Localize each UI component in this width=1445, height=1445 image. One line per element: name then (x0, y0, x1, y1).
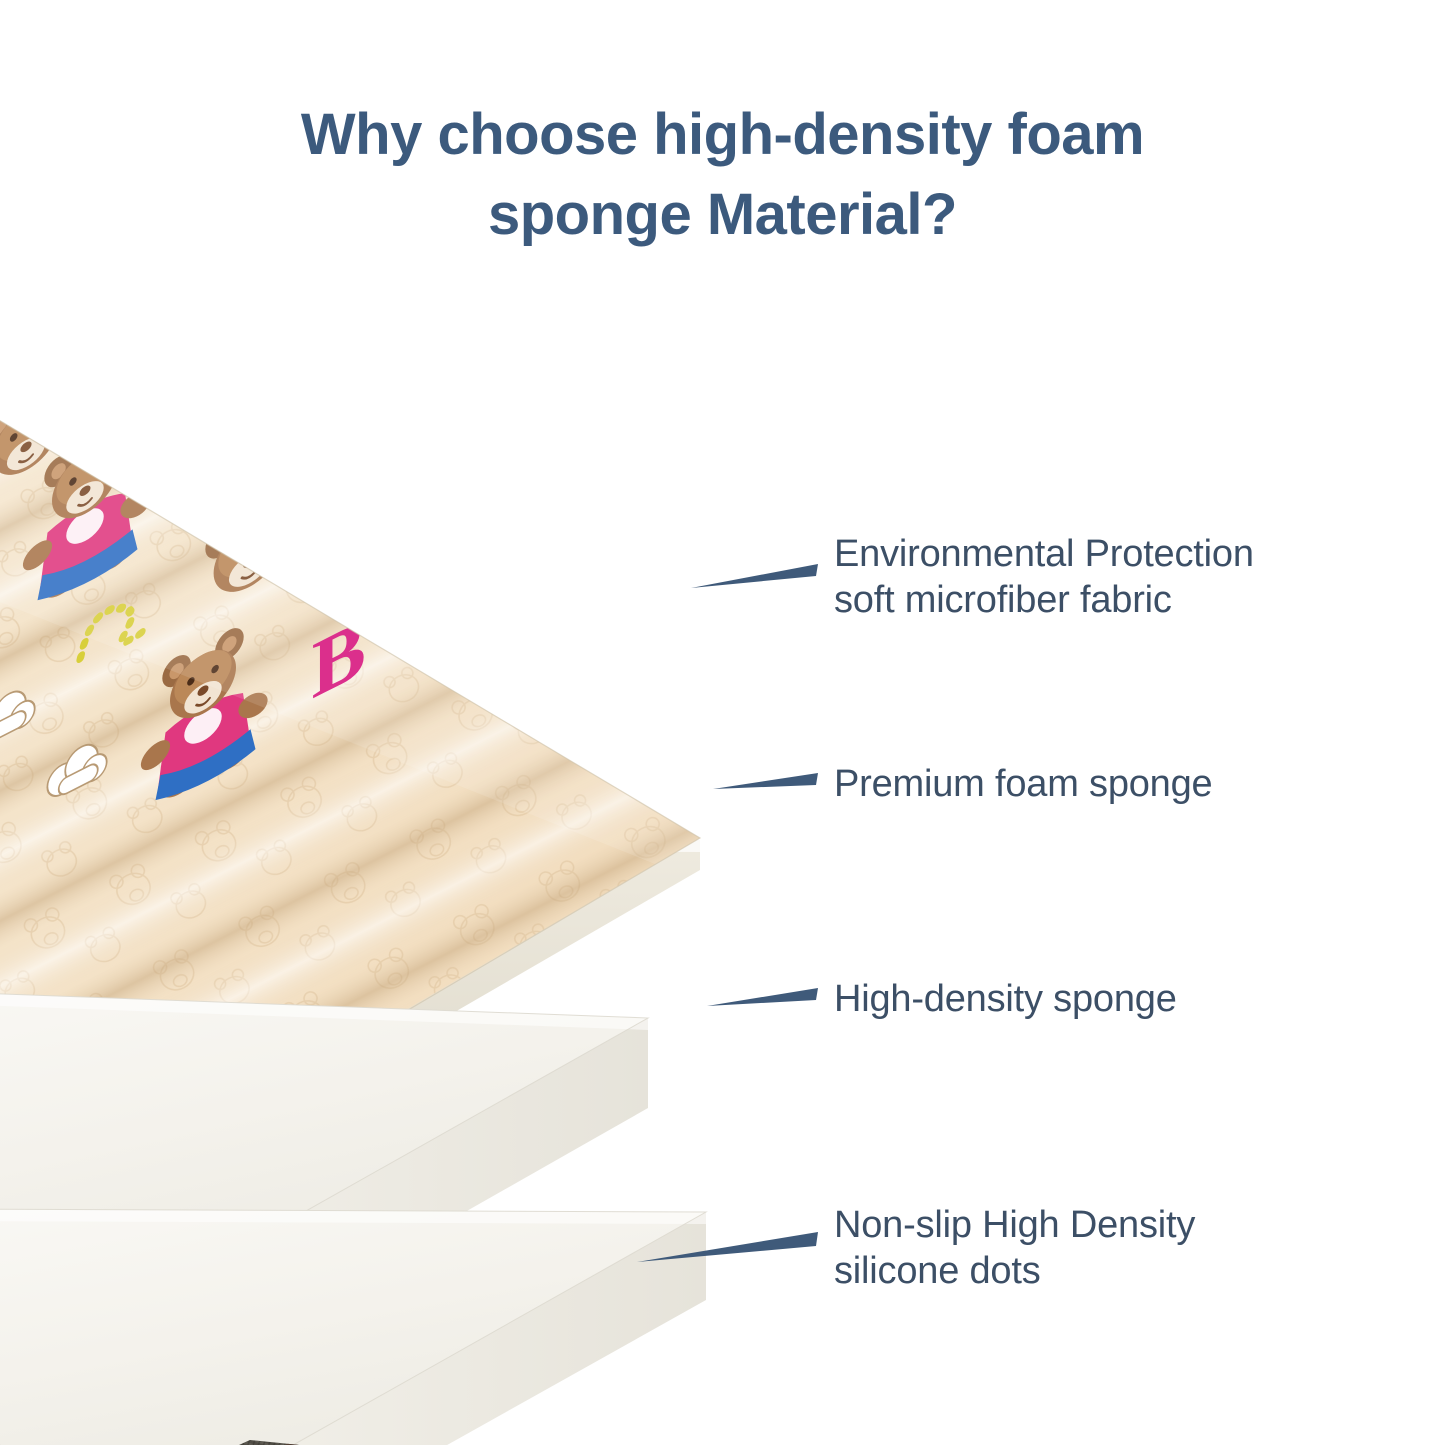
label-3-line-1: High-density sponge (834, 976, 1177, 1022)
label-4-line-1: Non-slip High Density (834, 1202, 1195, 1248)
label-1-line-2: soft microfiber fabric (834, 577, 1254, 623)
infographic-canvas: Why choose high-density foam sponge Mate… (0, 0, 1445, 1445)
leader-line-fabric (690, 552, 820, 592)
page-title: Why choose high-density foam sponge Mate… (0, 95, 1445, 255)
label-premium-foam-sponge: Premium foam sponge (834, 761, 1212, 807)
leader-line-premium-foam (712, 765, 822, 799)
label-1-line-1: Environmental Protection (834, 531, 1254, 577)
label-environmental-protection-fabric: Environmental Protection soft microfiber… (834, 531, 1254, 623)
label-non-slip-silicone-dots: Non-slip High Density silicone dots (834, 1202, 1195, 1294)
leader-line-high-density-foam (706, 980, 822, 1014)
page-title-line-2: sponge Material? (150, 175, 1295, 255)
page-title-line-1: Why choose high-density foam (150, 95, 1295, 175)
label-high-density-sponge: High-density sponge (834, 976, 1177, 1022)
exploded-layer-stack: B (0, 270, 760, 1445)
label-4-line-2: silicone dots (834, 1248, 1195, 1294)
label-2-line-1: Premium foam sponge (834, 761, 1212, 807)
leader-line-silicone-dots (636, 1222, 821, 1266)
